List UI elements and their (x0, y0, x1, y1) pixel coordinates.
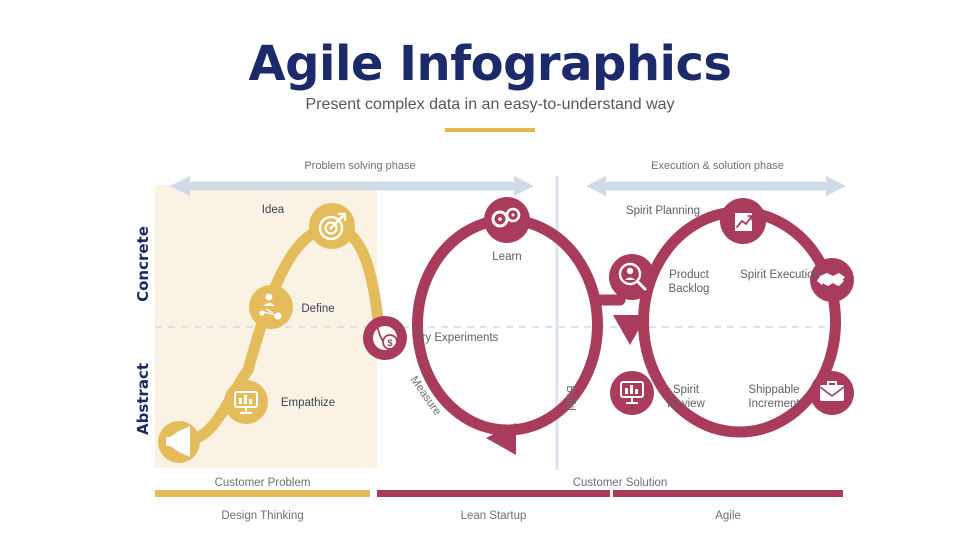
label-spirit-review: Spirit Review (655, 383, 717, 412)
label-empathize: Empathize (268, 396, 348, 410)
label-learn: Learn (477, 250, 537, 264)
label-spirit-execution: Spirit Execution (740, 268, 820, 282)
infographic-canvas: Agile Infographics Present complex data … (0, 0, 980, 551)
bar-lean-startup (377, 490, 610, 497)
bar-agile (613, 490, 843, 497)
label-define: Define (288, 302, 348, 316)
label-try-experiments: Try Experiments (415, 331, 525, 345)
label-lean-startup: Lean Startup (377, 510, 610, 522)
axis-label-abstract: Abstract (134, 349, 152, 449)
label-idea: Idea (243, 203, 303, 217)
node-product-backlog[interactable] (609, 254, 655, 300)
axis-label-concrete: Concrete (134, 214, 152, 314)
label-agile: Agile (613, 510, 843, 522)
node-define[interactable] (249, 285, 293, 329)
label-build: Build (564, 385, 576, 411)
phase-arrow-right (586, 176, 846, 196)
phase-label-problem-solving: Problem solving phase (180, 160, 540, 172)
phase-label-execution-solution: Execution & solution phase (585, 160, 850, 172)
bar-design-thinking (155, 490, 370, 497)
label-shippable-increment: Shippable Increment (728, 383, 820, 412)
label-spirit-planning: Spirit Planning (608, 204, 718, 218)
svg-text:$: $ (387, 338, 392, 348)
money-coin-icon: $ (373, 326, 397, 350)
label-customer-problem: Customer Problem (155, 477, 370, 489)
label-customer-solution: Customer Solution (480, 477, 760, 489)
label-design-thinking: Design Thinking (155, 510, 370, 522)
label-product-backlog: Product Backlog (655, 268, 723, 297)
growth-chart-icon (735, 213, 752, 231)
